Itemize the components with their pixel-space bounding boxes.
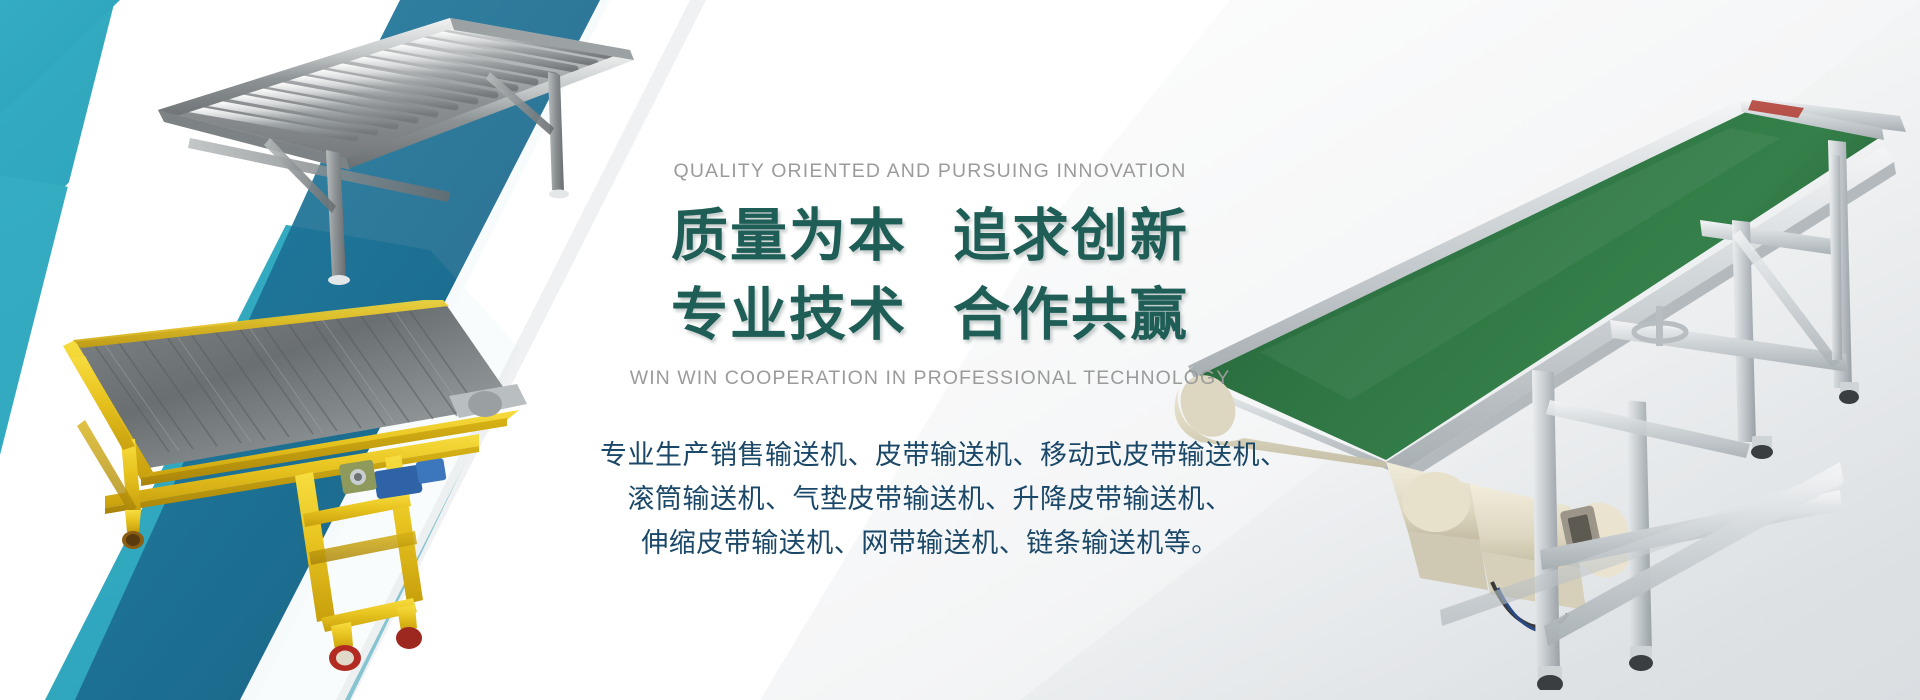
headline-line-1: 质量为本追求创新 bbox=[600, 197, 1260, 276]
headline-line-2: 专业技术合作共赢 bbox=[600, 276, 1260, 355]
headline-line-1-part-b: 追求创新 bbox=[953, 203, 1189, 269]
description-line: 专业生产销售输送机、皮带输送机、移动式皮带输送机、 bbox=[600, 434, 1260, 478]
headline-line-2-part-a: 专业技术 bbox=[671, 282, 907, 348]
product-yellow-belt-conveyor bbox=[45, 300, 625, 700]
description-line: 滚筒输送机、气垫皮带输送机、升降皮带输送机、 bbox=[600, 478, 1260, 522]
headline-line-2-part-b: 合作共赢 bbox=[953, 282, 1189, 348]
banner-copy: QUALITY ORIENTED AND PURSUING INNOVATION… bbox=[600, 160, 1260, 565]
promotional-banner: QUALITY ORIENTED AND PURSUING INNOVATION… bbox=[0, 0, 1920, 700]
headline-line-1-part-a: 质量为本 bbox=[671, 203, 907, 269]
description-line: 伸缩皮带输送机、网带输送机、链条输送机等。 bbox=[600, 522, 1260, 566]
eyebrow-bottom: WIN WIN COOPERATION IN PROFESSIONAL TECH… bbox=[600, 367, 1260, 390]
eyebrow-top: QUALITY ORIENTED AND PURSUING INNOVATION bbox=[600, 160, 1260, 183]
product-roller-conveyor bbox=[150, 10, 650, 310]
description-paragraph: 专业生产销售输送机、皮带输送机、移动式皮带输送机、 滚筒输送机、气垫皮带输送机、… bbox=[600, 434, 1260, 565]
